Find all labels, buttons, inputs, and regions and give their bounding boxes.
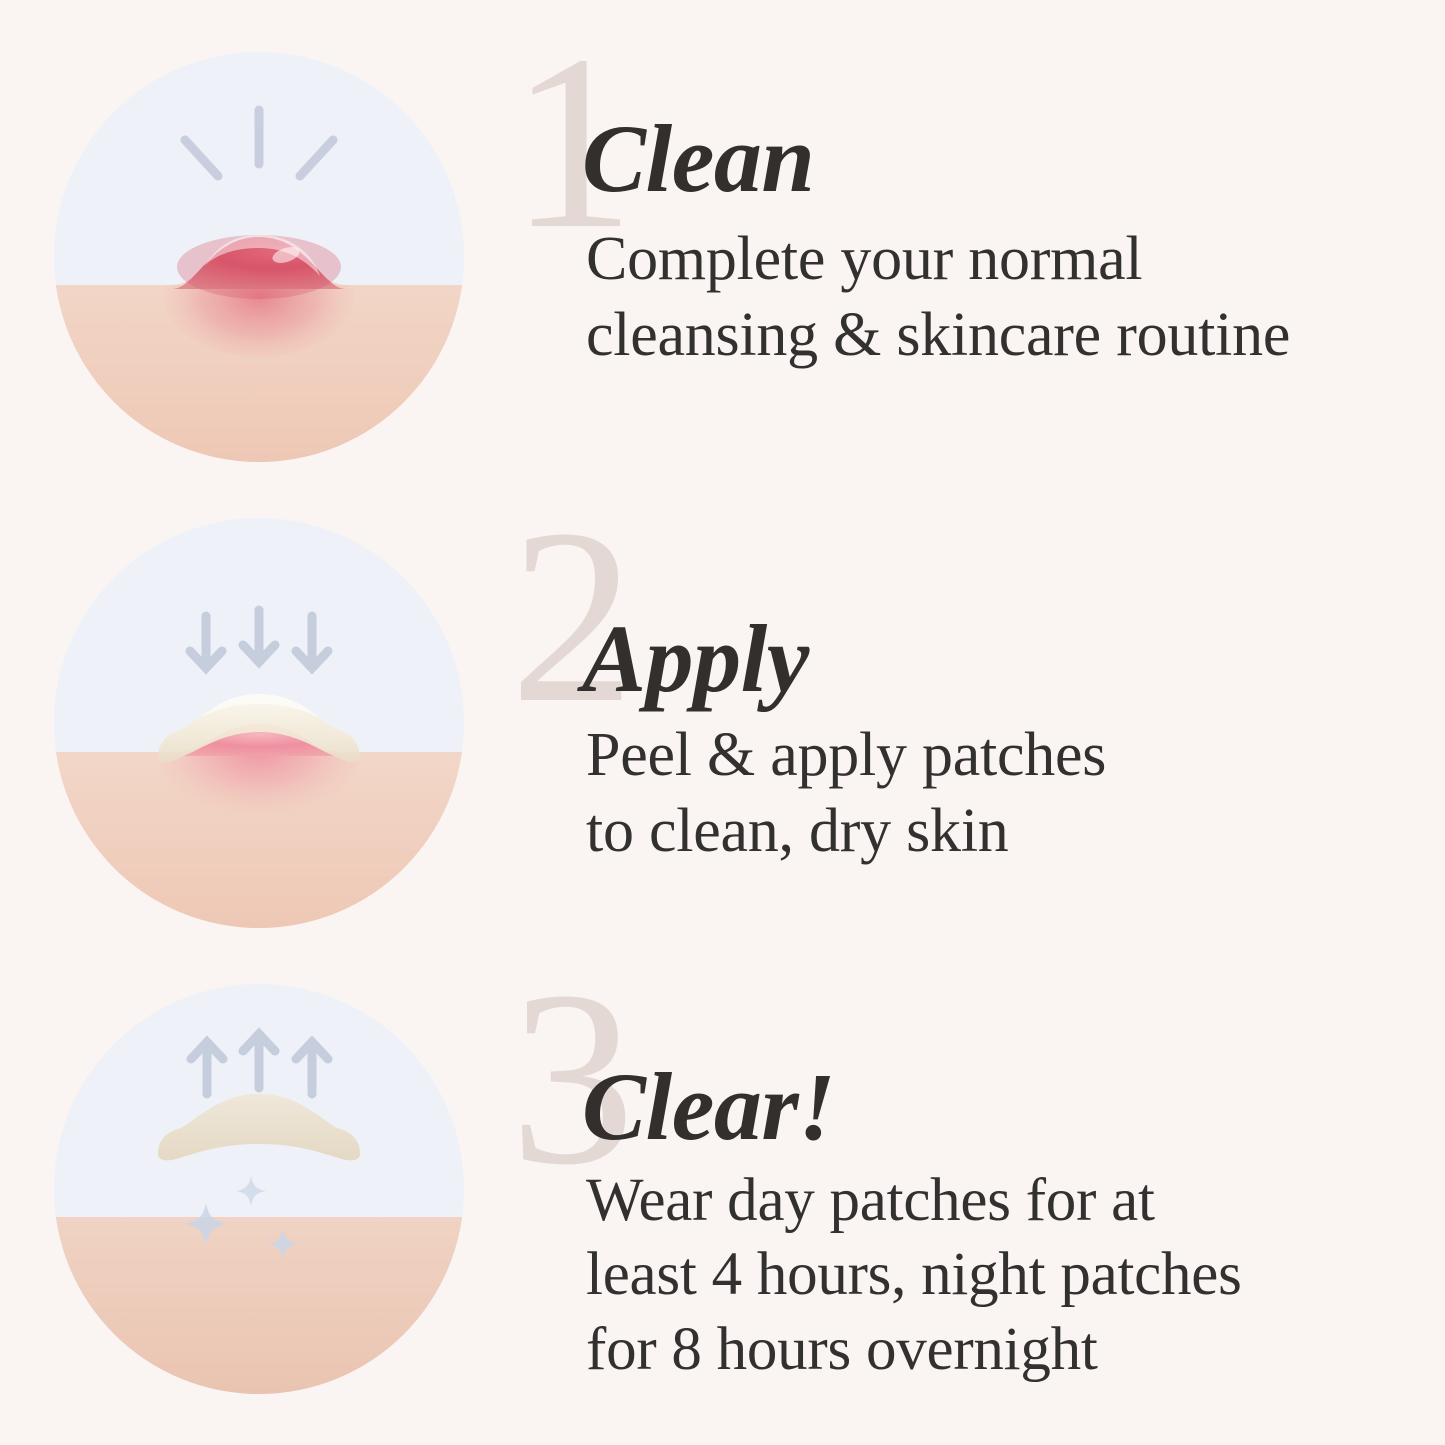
step-heading-3: Clear! bbox=[532, 984, 1405, 1156]
arrows-down-icon bbox=[190, 610, 328, 668]
starburst-lines-icon bbox=[185, 110, 333, 176]
step-heading-2: Apply bbox=[532, 518, 1405, 708]
blemish-irritated-skin-illustration bbox=[54, 52, 464, 462]
illustration-container-2 bbox=[0, 518, 500, 928]
illustration-container-1 bbox=[0, 52, 500, 462]
step-row-2: 2 Apply Peel & apply patches to clean, d… bbox=[0, 470, 1445, 940]
step-text-2: 2 Apply Peel & apply patches to clean, d… bbox=[500, 518, 1445, 869]
illustration-container-3 bbox=[0, 984, 500, 1394]
patch-applied-illustration bbox=[54, 518, 464, 928]
blemish-graphic bbox=[54, 52, 464, 462]
patch-lifting bbox=[158, 1094, 360, 1160]
step-body-2: Peel & apply patches to clean, dry skin bbox=[532, 708, 1405, 869]
patch-removed-clear-skin-illustration bbox=[54, 984, 464, 1394]
step-row-1: 1 Clean Complete your normal cleansing &… bbox=[0, 0, 1445, 470]
arrows-up-icon bbox=[191, 1034, 328, 1094]
step-row-3: 3 Clear! Wear day patches for at least 4… bbox=[0, 940, 1445, 1410]
instructions-infographic: 1 Clean Complete your normal cleansing &… bbox=[0, 0, 1445, 1445]
step-body-1: Complete your normal cleansing & skincar… bbox=[532, 208, 1405, 373]
clear-skin-graphic bbox=[54, 984, 464, 1394]
step-heading-1: Clean bbox=[532, 52, 1405, 208]
patch-graphic bbox=[54, 518, 464, 928]
step-text-1: 1 Clean Complete your normal cleansing &… bbox=[500, 52, 1445, 373]
step-body-3: Wear day patches for at least 4 hours, n… bbox=[532, 1156, 1405, 1387]
skin-contour bbox=[54, 1217, 464, 1394]
step-text-3: 3 Clear! Wear day patches for at least 4… bbox=[500, 984, 1445, 1387]
